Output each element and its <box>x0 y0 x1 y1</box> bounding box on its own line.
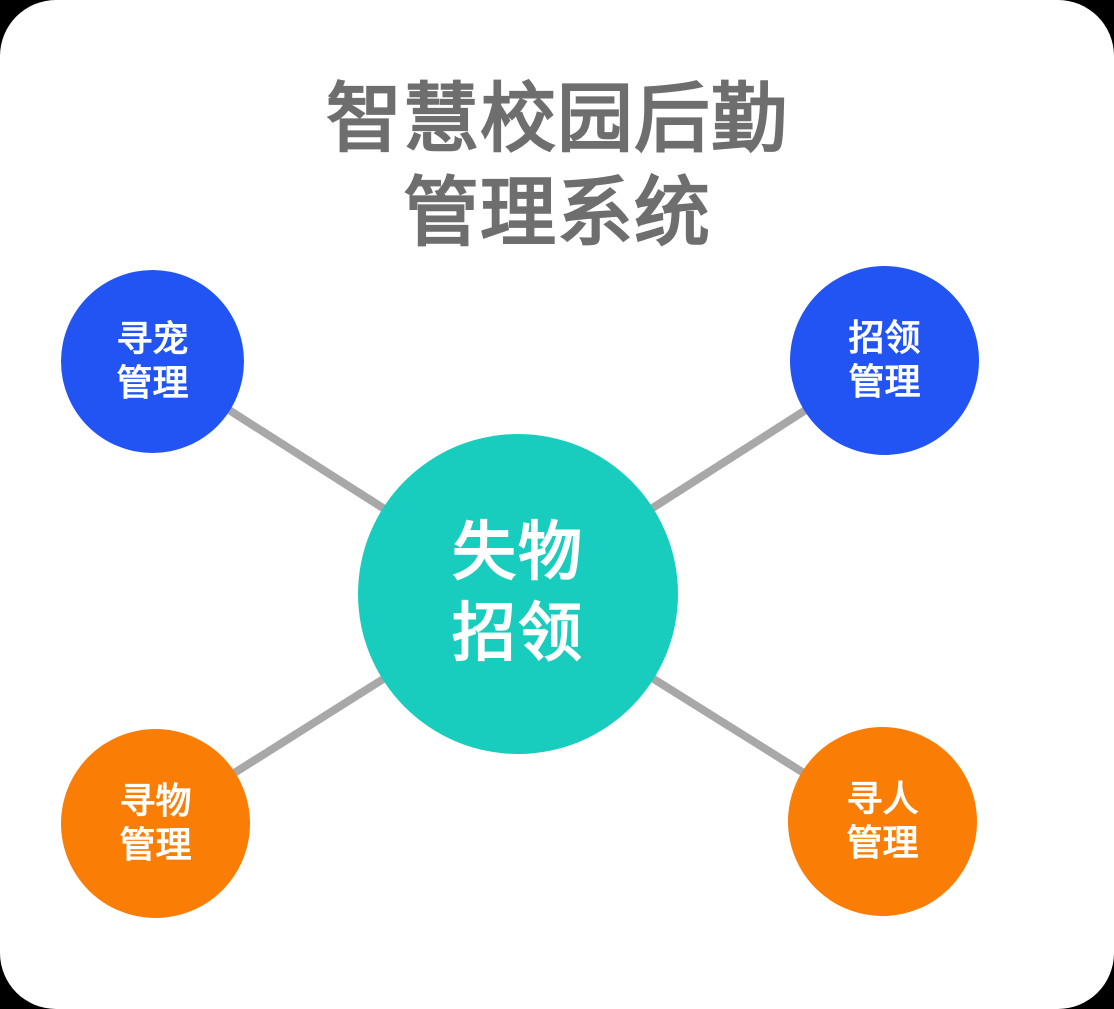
connector-person-search-management <box>652 678 804 773</box>
connector-claim-management <box>651 410 806 509</box>
hub-label-line-2: 招领 <box>452 594 584 675</box>
node-item-search-management[interactable]: 寻物 管理 <box>61 729 250 918</box>
node-label-line-2: 管理 <box>846 822 918 866</box>
node-person-search-management[interactable]: 寻人 管理 <box>788 727 977 916</box>
node-lost-and-found-hub[interactable]: 失物 招领 <box>358 434 678 754</box>
hub-label-line-1: 失物 <box>452 513 584 594</box>
node-label-line-1: 招领 <box>848 317 920 361</box>
connector-pet-search-management <box>227 409 385 509</box>
connector-item-search-management <box>233 678 385 774</box>
node-label-line-2: 管理 <box>848 361 920 405</box>
node-label-line-1: 寻物 <box>119 780 191 824</box>
node-claim-management[interactable]: 招领 管理 <box>790 266 979 455</box>
node-label-line-1: 寻人 <box>846 778 918 822</box>
node-label-line-2: 管理 <box>119 824 191 868</box>
node-label-line-2: 管理 <box>116 362 188 406</box>
node-pet-search-management[interactable]: 寻宠 管理 <box>61 270 244 453</box>
diagram-canvas: 智慧校园后勤 管理系统 寻宠 管理 招领 管理 寻物 管理 寻人 管理 失物 招… <box>0 0 1114 1009</box>
card-surface: 智慧校园后勤 管理系统 寻宠 管理 招领 管理 寻物 管理 寻人 管理 失物 招… <box>0 0 1114 1009</box>
node-label-line-1: 寻宠 <box>116 318 188 362</box>
